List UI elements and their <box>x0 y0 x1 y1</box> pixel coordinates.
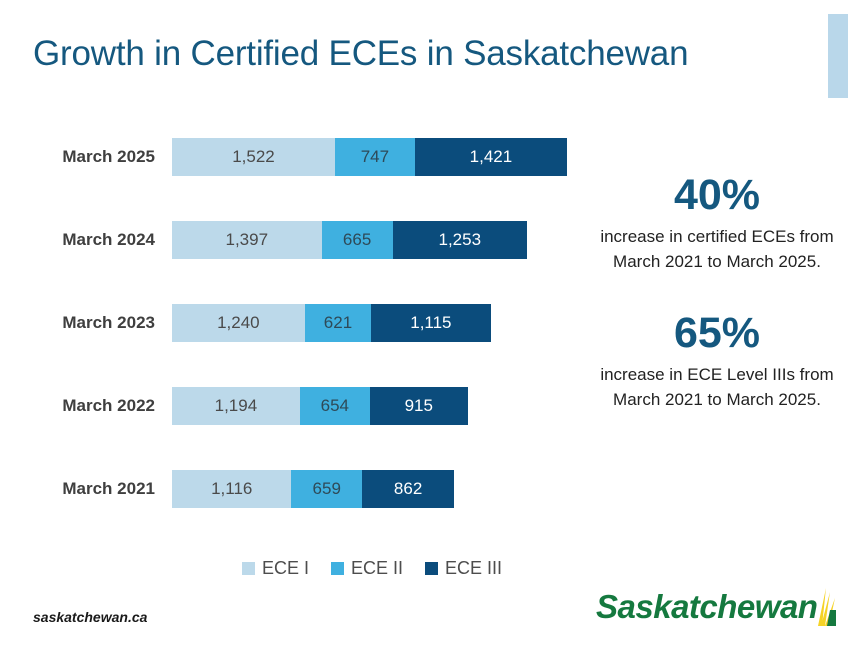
stat-value: 65% <box>586 308 848 358</box>
wheat-sheaf-icon <box>796 586 840 630</box>
stat-block: 40%increase in certified ECEs from March… <box>586 170 848 274</box>
site-url[interactable]: saskatchewan.ca <box>33 609 147 625</box>
bar-segment-ece-i: 1,397 <box>172 221 322 259</box>
bar-row: March 20231,2406211,115 <box>0 304 600 342</box>
logo-wordmark: Saskatchewan <box>596 588 817 626</box>
stat-block: 65%increase in ECE Level IIIs from March… <box>586 308 848 412</box>
legend-item-ece-iii[interactable]: ECE III <box>425 558 502 579</box>
legend-swatch-icon <box>242 562 255 575</box>
bar-segment-ece-ii: 747 <box>335 138 415 176</box>
stat-description: increase in certified ECEs from March 20… <box>586 224 848 274</box>
bar-segment-ece-iii: 1,253 <box>393 221 527 259</box>
legend-item-ece-ii[interactable]: ECE II <box>331 558 403 579</box>
bar-segment-ece-iii: 915 <box>370 387 468 425</box>
bar-row-label: March 2022 <box>0 387 155 425</box>
bar-segment-ece-iii: 862 <box>362 470 454 508</box>
page-title: Growth in Certified ECEs in Saskatchewan <box>33 32 803 76</box>
bar-segment-ece-i: 1,522 <box>172 138 335 176</box>
bar-track: 1,5227471,421 <box>172 138 567 176</box>
bar-segment-ece-i: 1,116 <box>172 470 291 508</box>
bar-track: 1,116659862 <box>172 470 454 508</box>
bar-row-label: March 2024 <box>0 221 155 259</box>
saskatchewan-logo: Saskatchewan <box>596 586 846 632</box>
stacked-bar-chart: March 20251,5227471,421March 20241,39766… <box>0 138 600 538</box>
bar-segment-ece-ii: 654 <box>300 387 370 425</box>
legend-label: ECE II <box>351 558 403 579</box>
bar-row-label: March 2021 <box>0 470 155 508</box>
bar-row: March 20251,5227471,421 <box>0 138 600 176</box>
stat-value: 40% <box>586 170 848 220</box>
bar-segment-ece-iii: 1,115 <box>371 304 490 342</box>
bar-row-label: March 2025 <box>0 138 155 176</box>
bar-row: March 20241,3976651,253 <box>0 221 600 259</box>
bar-segment-ece-i: 1,194 <box>172 387 300 425</box>
bar-segment-ece-ii: 665 <box>322 221 393 259</box>
bar-track: 1,3976651,253 <box>172 221 527 259</box>
bar-row: March 20211,116659862 <box>0 470 600 508</box>
bar-track: 1,2406211,115 <box>172 304 491 342</box>
legend-label: ECE III <box>445 558 502 579</box>
legend-item-ece-i[interactable]: ECE I <box>242 558 309 579</box>
legend-label: ECE I <box>262 558 309 579</box>
bar-segment-ece-i: 1,240 <box>172 304 305 342</box>
bar-track: 1,194654915 <box>172 387 468 425</box>
bar-segment-ece-ii: 621 <box>305 304 371 342</box>
stats-panel: 40%increase in certified ECEs from March… <box>586 170 848 412</box>
stat-description: increase in ECE Level IIIs from March 20… <box>586 362 848 412</box>
accent-bar <box>828 14 848 98</box>
bar-row: March 20221,194654915 <box>0 387 600 425</box>
legend-swatch-icon <box>425 562 438 575</box>
bar-row-label: March 2023 <box>0 304 155 342</box>
bar-segment-ece-iii: 1,421 <box>415 138 567 176</box>
legend-swatch-icon <box>331 562 344 575</box>
bar-segment-ece-ii: 659 <box>291 470 362 508</box>
chart-legend: ECE IECE IIECE III <box>172 556 572 580</box>
